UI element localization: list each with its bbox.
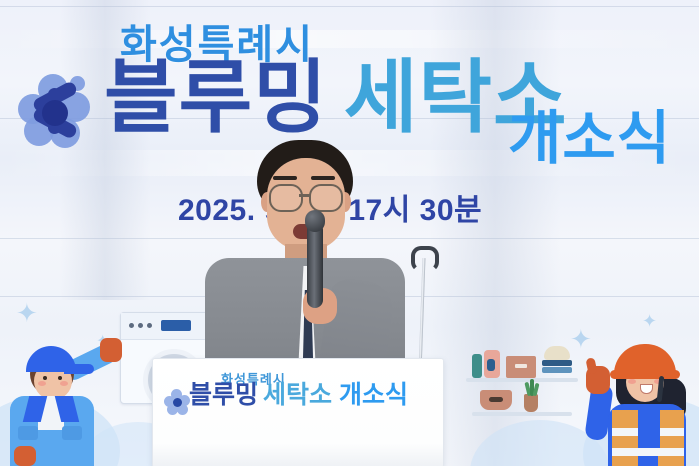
- banner-title: 블루밍세탁소: [104, 58, 568, 138]
- safety-vest: [612, 410, 638, 466]
- washing-machine-knob: [129, 323, 134, 328]
- safety-helmet-brim: [610, 370, 680, 379]
- speaker-eyebrow: [273, 176, 297, 180]
- handheld-microphone: [307, 222, 323, 308]
- shelf-board: [466, 378, 578, 382]
- flower-logo-icon: [16, 72, 92, 150]
- shelf-board: [472, 412, 572, 416]
- folded-towels-icon: [544, 346, 570, 360]
- character-shirt-front: [638, 408, 660, 448]
- podium-sign: 화성특례시 블루밍세탁소개소식: [152, 358, 444, 466]
- banner-title-word-1: 블루밍: [104, 53, 328, 142]
- washing-machine-display: [161, 320, 191, 331]
- laundry-worker-character: [4, 334, 122, 466]
- photo-canvas: 화성특례시 블루밍세탁소 개소식 2025. 9.(화) 17시 30분 ✦ ✦…: [0, 0, 699, 466]
- vest-reflective-stripe: [612, 448, 684, 456]
- laundry-basket-icon: [480, 390, 512, 410]
- washing-machine-knob: [138, 323, 143, 328]
- folded-towels-icon: [542, 367, 572, 373]
- speaker-eyebrow: [311, 176, 335, 180]
- eyeglasses-icon: [309, 184, 343, 212]
- character-pocket: [18, 426, 38, 440]
- microphone-head: [305, 210, 325, 232]
- eyeglasses-bridge: [299, 194, 311, 197]
- sparkle-icon: ✦: [16, 300, 38, 326]
- banner-wrinkle: [0, 30, 699, 48]
- safety-vest: [658, 410, 684, 466]
- podium-title-word-1: 블루밍: [189, 381, 258, 409]
- washing-machine-knob: [147, 323, 152, 328]
- character-pocket: [62, 426, 82, 440]
- podium-title: 블루밍세탁소개소식: [189, 383, 408, 408]
- character-cap-brim: [64, 364, 94, 374]
- laundry-shelf-unit: [466, 346, 578, 418]
- character-glove-icon: [14, 446, 36, 466]
- safety-worker-character: [582, 332, 699, 466]
- detergent-bottle-icon: [472, 354, 482, 378]
- storage-box-icon: [506, 356, 536, 378]
- podium-title-word-2: 세탁소: [263, 381, 332, 409]
- detergent-bottle-icon: [484, 350, 500, 378]
- potted-plant-icon: [524, 394, 538, 412]
- character-glove-icon: [100, 338, 122, 362]
- thumbs-up-icon: [586, 366, 610, 394]
- sparkle-icon: ✦: [642, 312, 657, 330]
- banner-seam: [0, 6, 699, 7]
- eyeglasses-icon: [269, 184, 303, 212]
- flower-logo-icon: [164, 389, 190, 415]
- folded-towels-icon: [542, 360, 572, 366]
- banner-title-suffix: 개소식: [508, 110, 671, 168]
- podium-title-suffix: 개소식: [339, 381, 408, 409]
